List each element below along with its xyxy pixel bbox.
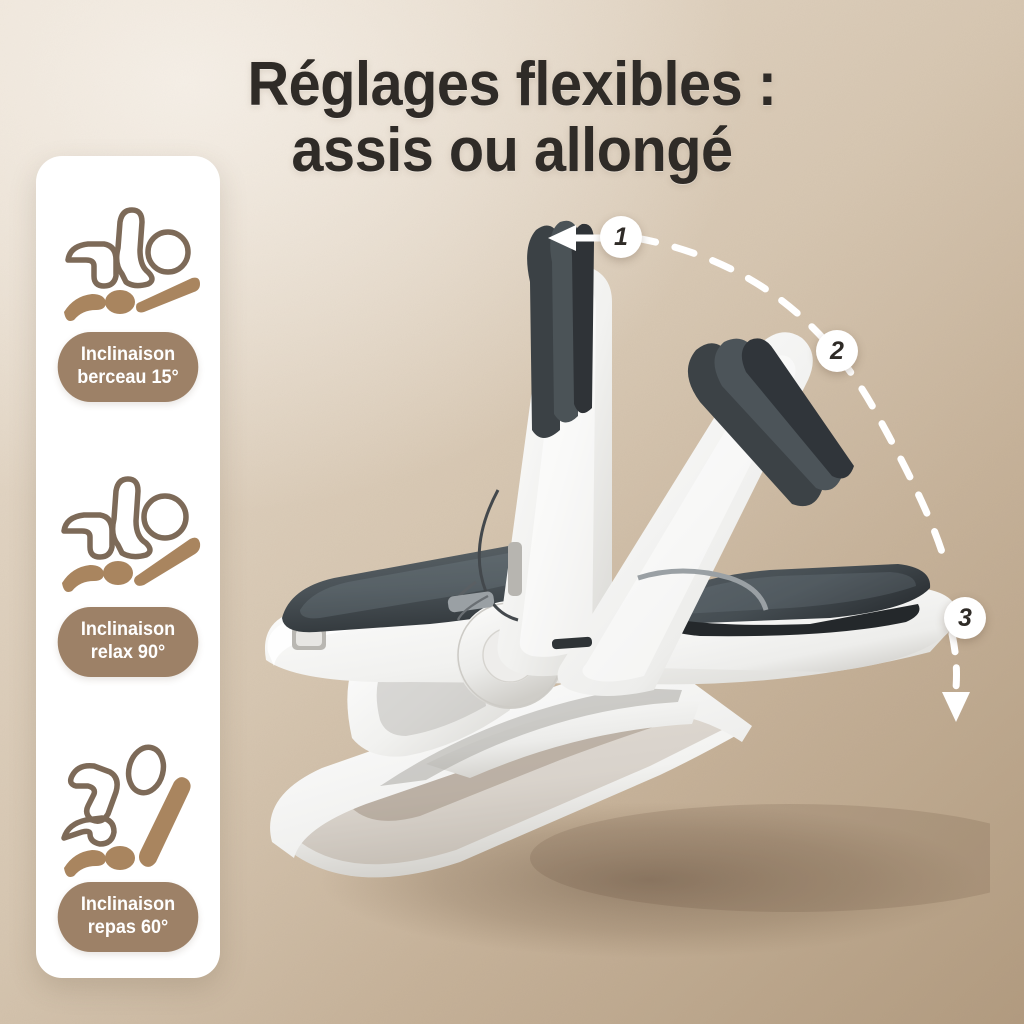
step-marker-3-label: 3 (958, 604, 972, 633)
feature-pill-relax: Inclinaison relax 90° (58, 607, 199, 677)
baby-seated-upright-icon (48, 740, 208, 880)
step-marker-1-label: 1 (614, 223, 628, 252)
product-backrest-upright (498, 221, 613, 676)
step-marker-1: 1 (600, 216, 642, 258)
baby-reclined-mid-icon (48, 465, 208, 605)
feature-pill-berceau: Inclinaison berceau 15° (58, 332, 199, 402)
baby-reclined-flat-icon (48, 190, 208, 330)
feature-pill-repas: Inclinaison repas 60° (58, 882, 199, 952)
product-illustration (230, 190, 990, 980)
feature-item-berceau[interactable]: Inclinaison berceau 15° (36, 190, 220, 402)
feature-panel: Inclinaison berceau 15° Inclinaison rela… (36, 156, 220, 978)
step-marker-3: 3 (944, 597, 986, 639)
step-marker-2-label: 2 (830, 337, 844, 366)
feature-item-relax[interactable]: Inclinaison relax 90° (36, 465, 220, 677)
step-marker-2: 2 (816, 330, 858, 372)
feature-item-repas[interactable]: Inclinaison repas 60° (36, 740, 220, 952)
